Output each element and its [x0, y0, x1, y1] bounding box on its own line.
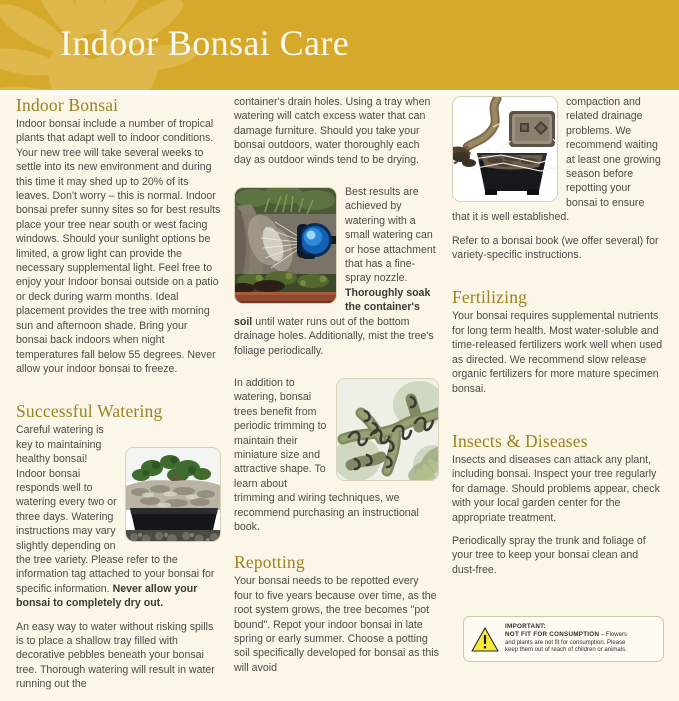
warning-text-block: IMPORTANT: NOT FIT FOR CONSUMPTION – Flo… — [505, 623, 627, 656]
warning-line-3: and plants are not fit for consumption. … — [505, 640, 627, 648]
spacer — [16, 385, 221, 401]
page-header: Indoor Bonsai Care — [0, 0, 679, 90]
column-right: compaction and related drainage problems… — [452, 95, 664, 586]
hose-nozzle-watering-photo — [234, 187, 337, 304]
spacer — [234, 176, 439, 185]
spacer — [452, 271, 664, 287]
warning-line-not-fit: NOT FIT FOR CONSUMPTION — [505, 631, 599, 638]
section-heading-repotting: Repotting — [234, 552, 439, 573]
column-middle: container's drain holes. Using a tray wh… — [234, 95, 439, 684]
warning-line-important: IMPORTANT: — [505, 623, 627, 631]
document-page: Indoor Bonsai Care Indoor Bonsai Indoor … — [0, 0, 679, 679]
paragraph-insects-diseases: Insects and diseases can attack any plan… — [452, 453, 664, 525]
section-heading-insects-diseases: Insects & Diseases — [452, 431, 664, 452]
paragraph-fertilizing: Your bonsai requires supplemental nutrie… — [452, 309, 664, 395]
paragraph-spray-trunk: Periodically spray the trunk and foliage… — [452, 534, 664, 577]
repotting-drainage-diagram-photo — [452, 96, 558, 202]
paragraph-refer-book: Refer to a bonsai book (we offer several… — [452, 234, 664, 263]
best-results-text: Best results are achieved by watering wi… — [345, 186, 436, 284]
best-results-tail: until water runs out of the bottom drain… — [234, 316, 434, 357]
section-heading-fertilizing: Fertilizing — [452, 287, 664, 308]
paragraph-repotting: Your bonsai needs to be repotted every f… — [234, 574, 439, 675]
column-left: Indoor Bonsai Indoor bonsai include a nu… — [16, 95, 221, 701]
warning-line-flowers: – Flowers — [599, 632, 627, 638]
spacer — [452, 405, 664, 431]
section-heading-indoor-bonsai: Indoor Bonsai — [16, 95, 221, 116]
bonsai-in-dark-pot-photo — [125, 447, 221, 542]
paragraph-drain-holes: container's drain holes. Using a tray wh… — [234, 95, 439, 167]
wired-bonsai-branches-photo — [336, 378, 439, 481]
warning-triangle-icon — [471, 627, 499, 652]
spacer — [234, 543, 439, 552]
section-heading-successful-watering: Successful Watering — [16, 401, 221, 422]
spacer — [234, 367, 439, 376]
content-area: Indoor Bonsai Indoor bonsai include a nu… — [0, 95, 679, 679]
warning-line-4: keep them out of reach of children or an… — [505, 647, 627, 655]
paragraph-indoor-bonsai: Indoor bonsai include a number of tropic… — [16, 117, 221, 376]
paragraph-watering-tail: An easy way to water without risking spi… — [16, 620, 221, 692]
page-title: Indoor Bonsai Care — [60, 22, 349, 64]
important-warning-box: IMPORTANT: NOT FIT FOR CONSUMPTION – Flo… — [463, 616, 664, 662]
